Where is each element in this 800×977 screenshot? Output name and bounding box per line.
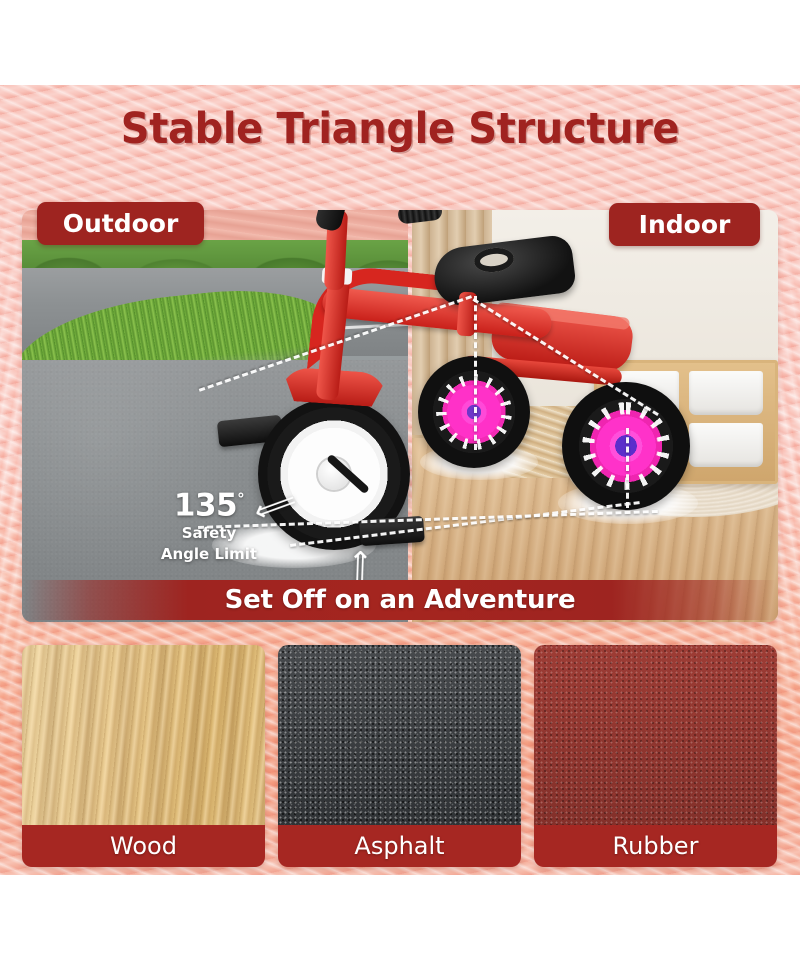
surface-label-rubber: Rubber xyxy=(534,825,777,867)
indoor-scene-photo xyxy=(412,210,778,622)
indoor-storage-shelf xyxy=(594,360,778,484)
indoor-curtain xyxy=(412,210,498,435)
angle-caption-line1: Safety xyxy=(134,524,284,543)
surface-label-asphalt: Asphalt xyxy=(278,825,521,867)
surface-card-asphalt: Asphalt xyxy=(278,645,521,867)
badge-indoor: Indoor xyxy=(609,203,760,246)
badge-indoor-label: Indoor xyxy=(639,210,731,239)
adventure-banner-text: Set Off on an Adventure xyxy=(225,585,576,615)
wood-texture-swatch xyxy=(22,645,265,825)
angle-value: 135° xyxy=(134,482,284,522)
asphalt-texture-swatch xyxy=(278,645,521,825)
hero-clip: ⟸ ⟸ 135° Safety Angle Limit xyxy=(22,210,778,622)
storage-bin xyxy=(605,371,679,415)
surface-card-list: Wood Asphalt Rubber xyxy=(22,645,778,867)
storage-bin xyxy=(689,371,763,415)
badge-outdoor: Outdoor xyxy=(37,202,204,245)
storage-bin xyxy=(605,423,679,467)
angle-caption-line2: Angle Limit xyxy=(134,545,284,564)
safety-angle-callout: 135° Safety Angle Limit xyxy=(134,482,284,564)
page-title: Stable Triangle Structure xyxy=(28,101,772,157)
rubber-texture-swatch xyxy=(534,645,777,825)
indoor-cushion-stack xyxy=(502,406,598,478)
hero-photo-strip: ⟸ ⟸ 135° Safety Angle Limit xyxy=(22,210,778,622)
storage-bin xyxy=(689,423,763,467)
badge-outdoor-label: Outdoor xyxy=(63,209,179,238)
surface-label-wood: Wood xyxy=(22,825,265,867)
adventure-banner: Set Off on an Adventure xyxy=(22,580,778,620)
surface-card-rubber: Rubber xyxy=(534,645,777,867)
surface-card-wood: Wood xyxy=(22,645,265,867)
product-feature-poster: Stable Triangle Structure xyxy=(0,0,800,977)
